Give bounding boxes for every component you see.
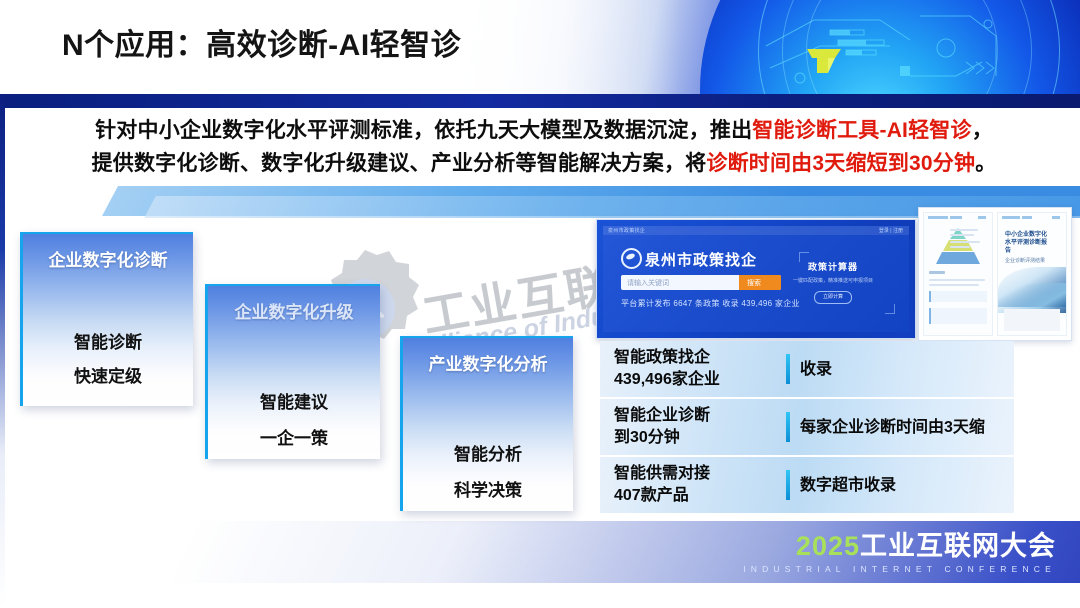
screenshot-topbar-left: 泉州市政策找企 xyxy=(608,227,645,234)
screenshot-topbar-right[interactable]: 登录 | 注册 xyxy=(879,227,903,234)
card-line-2: 快速定级 xyxy=(23,362,193,387)
list-item-label-title: 智能政策找企 xyxy=(614,347,786,369)
lead-line1-highlight: 智能诊断工具-AI轻智诊 xyxy=(752,119,971,142)
stair-card-enterprise-upgrade[interactable]: 企业数字化升级 智能建议 一企一策 xyxy=(205,284,380,459)
report-cover-page: 中小企业数字化水平评测诊断报告 企业诊断评测结果 xyxy=(997,212,1067,336)
screenshot-search-placeholder: 请输入关键词 xyxy=(627,278,669,288)
lead-line1-text-b: ， xyxy=(972,119,993,142)
list-item-divider-bar xyxy=(786,470,790,500)
quanzhou-logo-icon xyxy=(621,248,642,269)
lead-line2-highlight: 诊断时间由3天缩短到30分钟 xyxy=(706,152,975,175)
metrics-list: 智能政策找企 439,496家企业 收录 智能企业诊断 到30分钟 每家企业诊断… xyxy=(600,341,1014,513)
list-item-description: 数字超市收录 xyxy=(800,475,1014,496)
report-cover-subtitle: 企业诊断评测结果 xyxy=(1005,257,1050,265)
conference-logo: 2025工业互联网大会 INDUSTRIAL INTERNET CONFEREN… xyxy=(743,531,1056,574)
screenshot-search-button[interactable]: 搜索 xyxy=(739,275,781,290)
calculator-subtitle: 一键匹配政策，精准推送可申报项目 xyxy=(785,277,881,284)
header-circuit-graphic xyxy=(760,6,1020,94)
card-heading: 企业数字化升级 xyxy=(208,300,380,325)
list-item-label: 智能供需对接 407款产品 xyxy=(600,463,786,507)
conference-logo-name-cn: 工业互联网大会 xyxy=(860,531,1056,561)
list-item-label-title: 智能供需对接 xyxy=(614,463,786,485)
list-item[interactable]: 智能企业诊断 到30分钟 每家企业诊断时间由3天缩 xyxy=(600,397,1014,455)
lead-line2-text-a: 提供数字化诊断、数字化升级建议、产业分析等智能解决方案，将 xyxy=(92,152,707,175)
report-cover-header xyxy=(1002,216,1062,221)
screenshot-site-title: 泉州市政策找企 xyxy=(645,249,757,270)
screenshot-corner-decor-br xyxy=(885,304,895,314)
lead-line2-text-b: 。 xyxy=(975,152,996,175)
screenshot-search-button-label: 搜索 xyxy=(747,278,761,288)
screenshot-topbar: 泉州市政策找企 登录 | 注册 xyxy=(603,226,909,235)
screenshot-stats: 平台累计发布 6647 条政策 收录 439,496 家企业 xyxy=(621,298,800,309)
t-logo-icon xyxy=(804,44,844,76)
list-item-label-value: 439,496家企业 xyxy=(614,369,786,391)
card-line-1: 智能建议 xyxy=(208,388,380,413)
card-line-2: 一企一策 xyxy=(208,424,380,449)
screenshot-corner-decor-tl xyxy=(799,252,809,262)
list-item-label-value: 407款产品 xyxy=(614,485,786,507)
list-item-description: 收录 xyxy=(800,359,1014,380)
list-item[interactable]: 智能供需对接 407款产品 数字超市收录 xyxy=(600,455,1014,513)
policy-site-screenshot[interactable]: 泉州市政策找企 登录 | 注册 泉州市政策找企 请输入关键词 搜索 平台累计发布… xyxy=(596,219,916,339)
list-item[interactable]: 智能政策找企 439,496家企业 收录 xyxy=(600,341,1014,397)
calculator-button[interactable]: 立即计算 xyxy=(814,291,852,304)
card-line-2: 科学决策 xyxy=(403,476,573,501)
page-title: N个应用：高效诊断-AI轻智诊 xyxy=(62,20,461,64)
card-heading: 产业数字化分析 xyxy=(403,352,573,377)
diagnosis-report-preview[interactable]: 中小企业数字化水平评测诊断报告 企业诊断评测结果 xyxy=(918,207,1072,341)
card-line-1: 智能诊断 xyxy=(23,328,193,353)
list-item-label-title: 智能企业诊断 xyxy=(614,405,786,427)
conference-logo-main: 2025工业互联网大会 xyxy=(743,531,1056,561)
lead-line-1: 针对中小企业数字化水平评测标准，依托九天大模型及数据沉淀，推出智能诊断工具-AI… xyxy=(44,114,1044,147)
conference-logo-name-en: INDUSTRIAL INTERNET CONFERENCE xyxy=(743,564,1056,574)
stair-card-industry-analysis[interactable]: 产业数字化分析 智能分析 科学决策 xyxy=(400,336,573,511)
left-edge-strip xyxy=(0,94,5,608)
report-cover-title: 中小企业数字化水平评测诊断报告 xyxy=(1005,231,1050,255)
slide-root: N个应用：高效诊断-AI轻智诊 针对中小企业数字化水平评测标准，依托九天大模型及… xyxy=(0,0,1080,608)
report-inner-page xyxy=(923,212,993,336)
lead-line1-text-a: 针对中小企业数字化水平评测标准，依托九天大模型及数据沉淀，推出 xyxy=(95,119,752,142)
lead-paragraph: 针对中小企业数字化水平评测标准，依托九天大模型及数据沉淀，推出智能诊断工具-AI… xyxy=(44,114,1044,180)
list-item-label: 智能政策找企 439,496家企业 xyxy=(600,347,786,391)
list-item-divider-bar xyxy=(786,354,790,384)
card-line-1: 智能分析 xyxy=(403,440,573,465)
list-item-divider-bar xyxy=(786,412,790,442)
report-cover-footer xyxy=(1004,309,1060,331)
list-item-label-value: 到30分钟 xyxy=(614,427,786,449)
conference-logo-year: 2025 xyxy=(796,531,860,561)
stair-card-enterprise-diagnosis[interactable]: 企业数字化诊断 智能诊断 快速定级 xyxy=(20,232,193,406)
card-heading: 企业数字化诊断 xyxy=(23,248,193,273)
list-item-label: 智能企业诊断 到30分钟 xyxy=(600,405,786,449)
screenshot-calculator-panel: 政策计算器 一键匹配政策，精准推送可申报项目 立即计算 xyxy=(785,260,881,304)
screenshot-search-input[interactable]: 请输入关键词 搜索 xyxy=(621,275,781,290)
screenshot-inner: 泉州市政策找企 登录 | 注册 泉州市政策找企 请输入关键词 搜索 平台累计发布… xyxy=(603,226,909,332)
header-accent-bar xyxy=(0,94,1080,108)
lead-line-2: 提供数字化诊断、数字化升级建议、产业分析等智能解决方案，将诊断时间由3天缩短到3… xyxy=(44,147,1044,180)
slide-header: N个应用：高效诊断-AI轻智诊 xyxy=(0,0,1080,94)
list-item-description: 每家企业诊断时间由3天缩 xyxy=(800,417,1014,438)
report-page-header xyxy=(928,216,988,221)
